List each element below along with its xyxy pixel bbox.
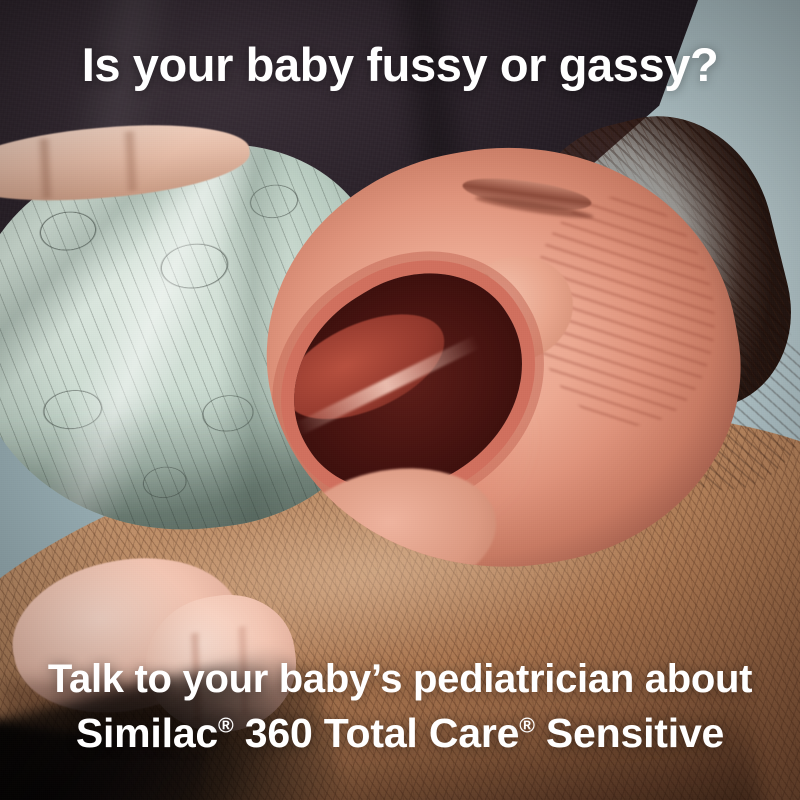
product-variant: Sensitive (535, 710, 724, 756)
footer-line-2: Similac® 360 Total Care® Sensitive (18, 708, 782, 758)
registered-trademark-icon-2: ® (519, 713, 535, 737)
footer-callout: Talk to your baby’s pediatrician about S… (0, 657, 800, 758)
product-name: 360 Total Care (234, 710, 520, 756)
brand-name: Similac (76, 710, 218, 756)
footer-line-1: Talk to your baby’s pediatrician about (18, 657, 782, 702)
headline-text: Is your baby fussy or gassy? (0, 40, 800, 89)
similac-advertisement: Is your baby fussy or gassy? Talk to you… (0, 0, 800, 800)
registered-trademark-icon-1: ® (218, 713, 234, 737)
